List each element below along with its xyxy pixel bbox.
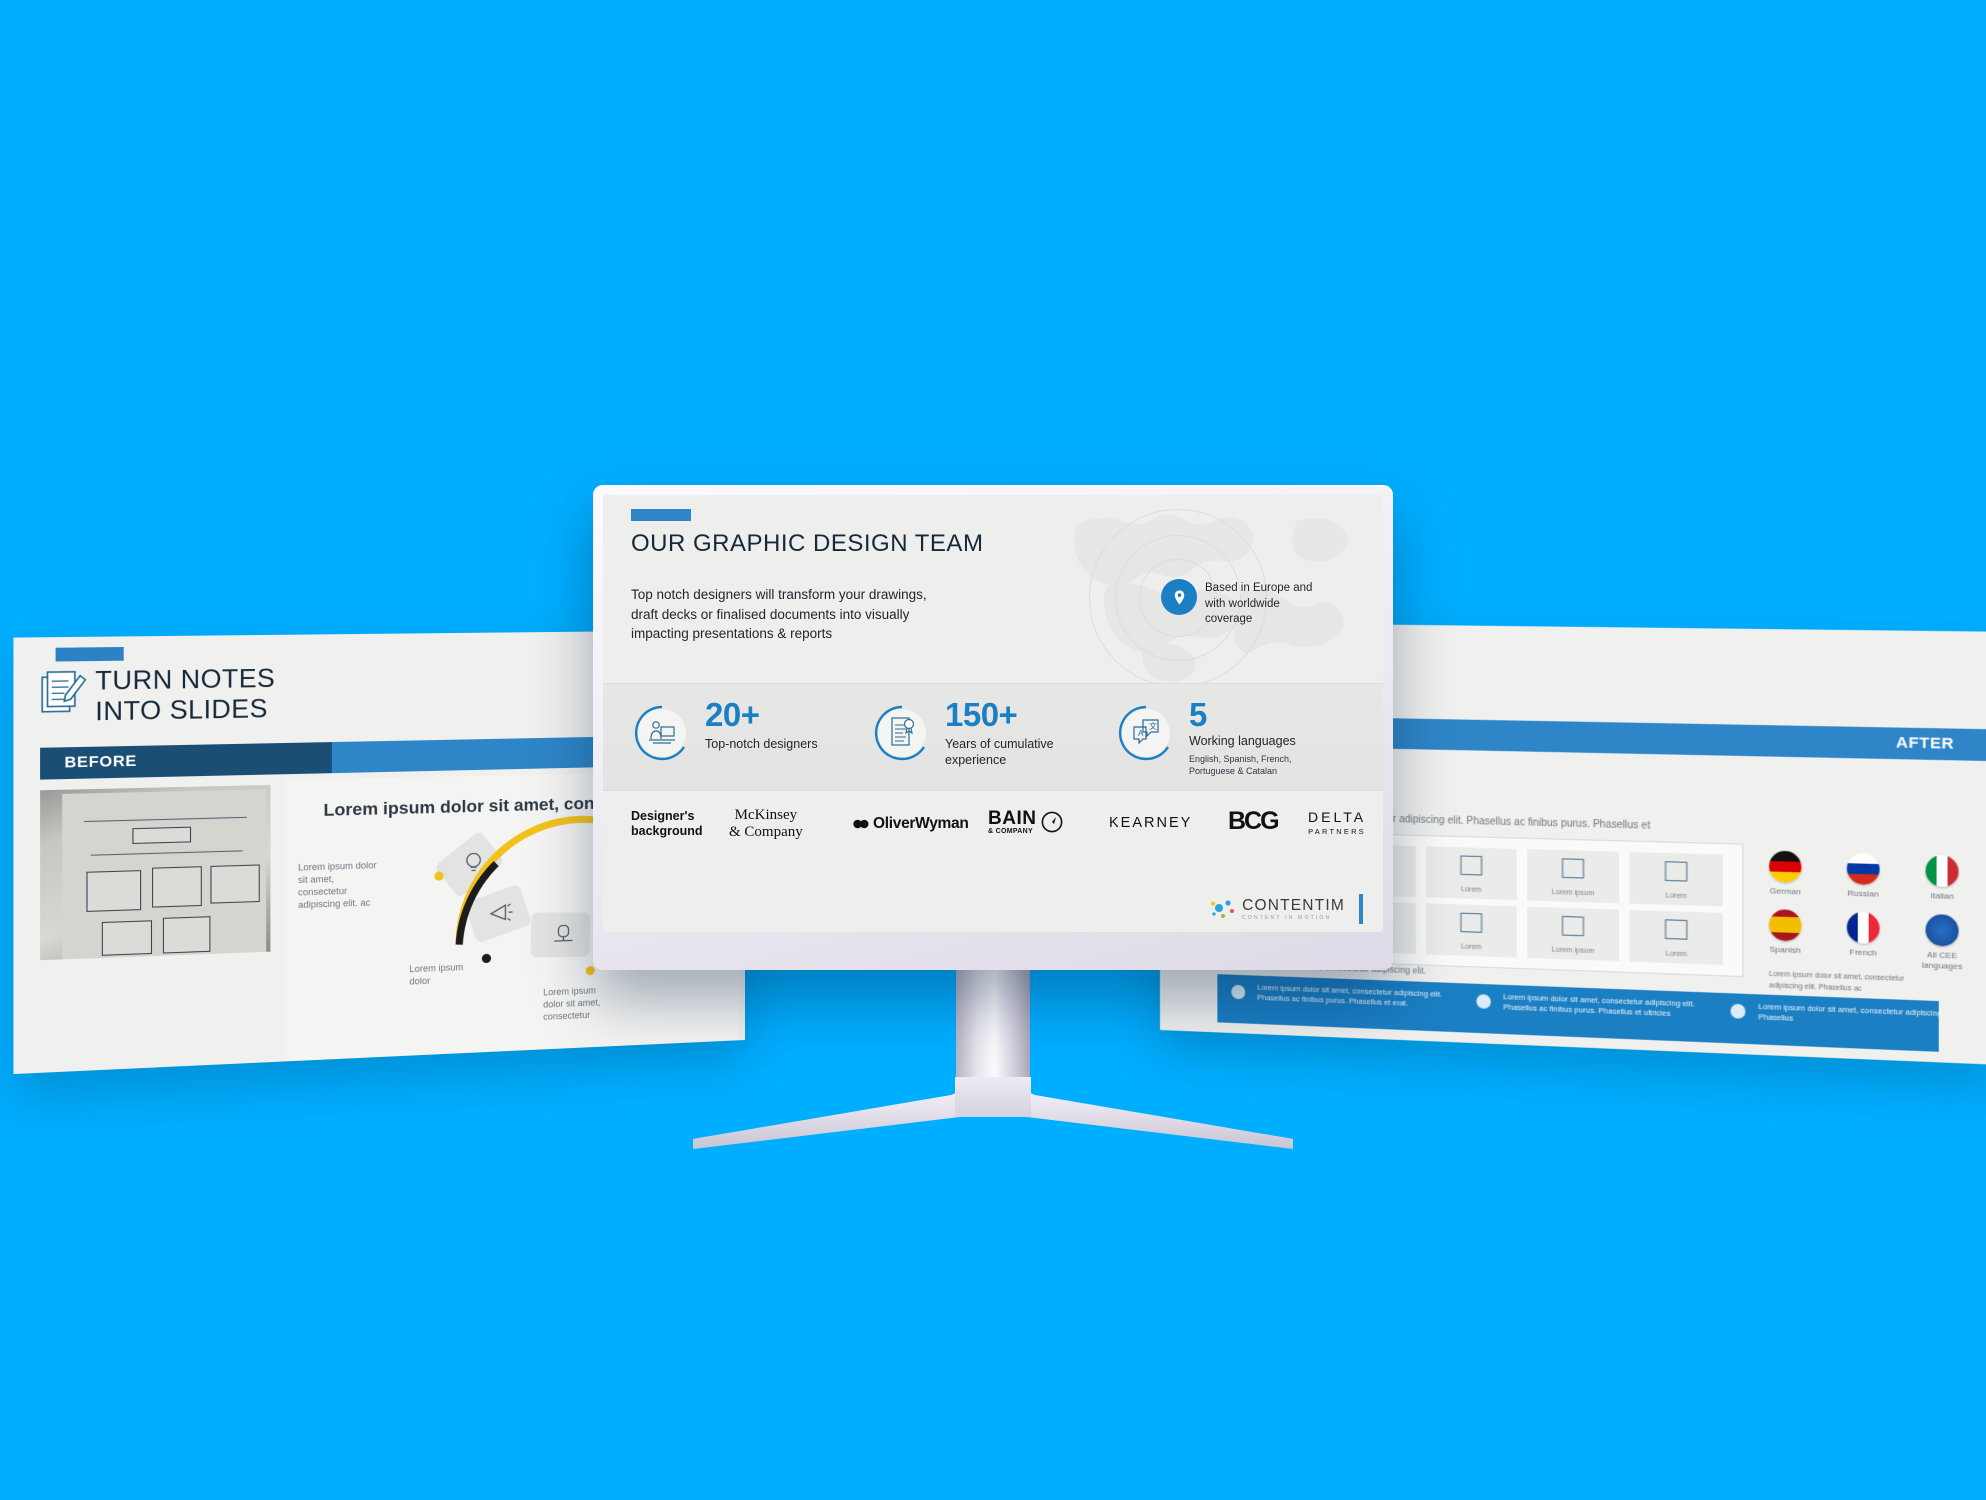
- background-canvas: TURN NOTES INTO SLIDES BEFORE Lorem ipsu…: [0, 0, 1986, 1500]
- flag-french: [1847, 911, 1880, 944]
- logo-bain: BAIN & COMPANY: [988, 809, 1063, 835]
- map-pin-icon: [1161, 579, 1197, 615]
- flag-caption: All CEE languages: [1911, 949, 1973, 971]
- monitor-base-wing-left: [693, 1077, 993, 1149]
- card-label: Lorem: [1630, 891, 1723, 901]
- laptop-icon: [1665, 861, 1687, 881]
- card-item[interactable]: Lorem ipsum: [1527, 849, 1619, 903]
- card-item[interactable]: Lorem: [1630, 910, 1723, 965]
- logo-kearney: KEARNEY: [1109, 815, 1192, 831]
- cube-icon: [1562, 916, 1584, 936]
- stat-label: Top-notch designers: [705, 737, 818, 753]
- flag-caption: Italian: [1911, 890, 1973, 902]
- slide-lead-text: Top notch designers will transform your …: [631, 585, 927, 644]
- stat-number: 5: [1189, 696, 1207, 734]
- blue-box-text: Lorem ipsum dolor sit amet, consectetur …: [1257, 983, 1470, 1012]
- card-label: Lorem ipsum: [1527, 888, 1619, 898]
- monitor-neck: [956, 968, 1030, 1088]
- card-label: Lorem: [1426, 942, 1517, 952]
- slide-title: OUR GRAPHIC DESIGN TEAM: [631, 530, 983, 558]
- contentim-name: CONTENTIM: [1242, 897, 1345, 915]
- certified-document-icon: [888, 716, 916, 748]
- link-icon: [1476, 994, 1490, 1009]
- card-label: Lorem: [1630, 949, 1723, 960]
- brand-rule: [1359, 894, 1363, 924]
- server-icon: [551, 922, 575, 947]
- flag-italian: [1926, 855, 1959, 888]
- logo-oliver-wyman-text: OliverWyman: [873, 815, 968, 833]
- slide-accent-bar: [631, 509, 691, 521]
- stat-languages: 文 A 5 Working languages English, Spanish…: [1115, 696, 1365, 780]
- flag-german: [1769, 851, 1801, 883]
- stat-designers: 20+ Top-notch designers: [631, 696, 851, 780]
- monitor-base-hub: [955, 1077, 1031, 1117]
- stat-number: 150+: [945, 696, 1017, 734]
- logo-bcg: BCG: [1228, 807, 1278, 836]
- contentim-dots-icon: [1210, 898, 1236, 920]
- flag-caption: French: [1833, 947, 1894, 959]
- oliver-wyman-mark: [853, 819, 869, 829]
- svg-text:文: 文: [1149, 721, 1157, 731]
- stats-band: 20+ Top-notch designers: [603, 683, 1383, 791]
- stat-label: Years of cumulative experience: [945, 737, 1054, 768]
- stat-experience: 150+ Years of cumulative experience: [871, 696, 1101, 780]
- logo-delta-sub: PARTNERS: [1308, 827, 1366, 836]
- flag-caption: Spanish: [1755, 944, 1815, 956]
- flag-spanish: [1769, 909, 1801, 941]
- after-label: AFTER: [1896, 734, 1954, 753]
- logo-delta-text: DELTA: [1308, 809, 1366, 827]
- mobile-icon: [1562, 858, 1584, 878]
- translate-chat-icon: 文 A: [1131, 717, 1161, 747]
- flag-caption: German: [1755, 886, 1815, 898]
- bain-circle-icon: [1041, 811, 1063, 833]
- card-item[interactable]: Lorem: [1426, 846, 1517, 900]
- blue-box-text: Lorem ipsum dolor sit amet, consectetur …: [1758, 1002, 1986, 1032]
- logo-delta-partners: DELTA PARTNERS: [1308, 809, 1366, 836]
- network-icon: [1460, 913, 1482, 933]
- left-slide-callout: Lorem ipsum dolor sit amet, consectetur …: [298, 858, 414, 912]
- left-slide-accent-bar: [56, 647, 124, 662]
- card-item[interactable]: Lorem: [1426, 903, 1517, 957]
- presentation-icon: [1460, 855, 1482, 875]
- card-item[interactable]: Lorem ipsum: [1527, 907, 1619, 962]
- designers-background-caption: Designer's background: [631, 809, 703, 839]
- left-slide-callout: Lorem ipsum dolor: [409, 959, 512, 988]
- left-slide-title: TURN NOTES INTO SLIDES: [95, 664, 275, 728]
- stat-number: 20+: [705, 696, 759, 734]
- package-icon: [1665, 919, 1687, 939]
- card-item[interactable]: Lorem: [1630, 852, 1723, 907]
- after-band-light: [1326, 717, 1986, 761]
- location-text: Based in Europe and with worldwide cover…: [1205, 581, 1323, 628]
- svg-text:A: A: [1138, 729, 1144, 738]
- logo-row: Designer's background McKinsey & Company…: [603, 789, 1383, 869]
- designer-at-desk-icon: [647, 718, 677, 748]
- monitor-bezel: Based in Europe and with worldwide cover…: [593, 485, 1393, 970]
- megaphone-icon: [488, 900, 515, 925]
- notes-pencil-icon: [40, 669, 86, 716]
- left-slide-callout: Lorem ipsum dolor sit amet, consectetur: [543, 982, 654, 1024]
- card-label: Lorem: [1426, 885, 1517, 895]
- contentim-brand: CONTENTIM CONTENT IN MOTION: [1210, 894, 1363, 924]
- logo-bain-text: BAIN: [988, 809, 1036, 828]
- blue-box-text: Lorem ipsum dolor sit amet, consectetur …: [1503, 992, 1724, 1021]
- monitor: Based in Europe and with worldwide cover…: [593, 485, 1393, 970]
- flag-all-cee: [1926, 914, 1959, 947]
- flag-russian: [1847, 853, 1880, 885]
- monitor-base-wing-right: [993, 1077, 1293, 1149]
- monitor-base: [693, 1077, 1293, 1149]
- logo-bain-sub: & COMPANY: [988, 828, 1036, 835]
- monitor-screen: Based in Europe and with worldwide cover…: [603, 495, 1383, 932]
- user-icon: [1731, 1004, 1746, 1019]
- stat-label: Working languages: [1189, 734, 1296, 750]
- lightbulb-icon: [461, 850, 486, 875]
- card-label: Lorem ipsum: [1527, 946, 1619, 956]
- contentim-tagline: CONTENT IN MOTION: [1242, 915, 1345, 921]
- logo-oliver-wyman: OliverWyman: [853, 815, 968, 833]
- logo-mckinsey: McKinsey & Company: [729, 807, 803, 840]
- stat-sublabel: English, Spanish, French, Portuguese & C…: [1189, 754, 1292, 777]
- flag-caption: Russian: [1833, 888, 1894, 900]
- before-label: BEFORE: [64, 752, 136, 771]
- sketch-photo: [40, 785, 270, 960]
- info-icon: [1231, 985, 1245, 1000]
